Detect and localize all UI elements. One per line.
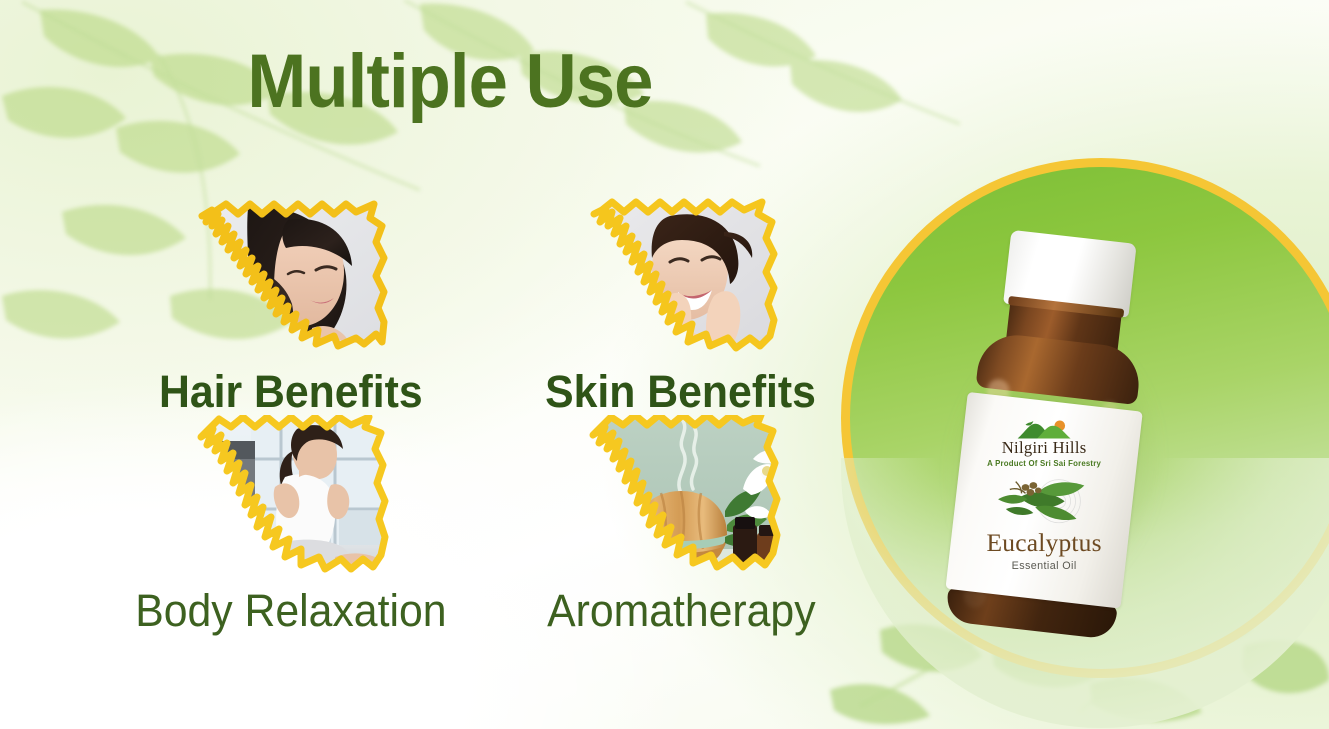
brand-tagline: A Product Of Sri Sai Forestry <box>958 459 1130 468</box>
benefit-label-body-relaxation: Body Relaxation <box>135 587 446 634</box>
brand-name: Nilgiri Hills <box>958 438 1130 458</box>
benefit-item-hair[interactable]: Hair Benefits <box>96 196 486 415</box>
benefit-label-aromatherapy: Aromatherapy <box>547 587 816 634</box>
benefit-label-skin: Skin Benefits <box>546 368 817 415</box>
benefit-item-aromatherapy[interactable]: Aromatherapy <box>486 415 876 634</box>
benefit-item-body-relaxation[interactable]: Body Relaxation <box>96 415 486 634</box>
hair-benefits-image-frame <box>188 196 394 362</box>
page-title: Multiple Use <box>32 44 869 120</box>
mountain-sun-icon <box>1016 419 1073 441</box>
benefits-grid: Hair Benefits <box>96 196 876 635</box>
benefits-row-bottom: Body Relaxation <box>96 415 876 634</box>
product-subtitle: Essential Oil <box>958 560 1130 572</box>
product-showcase: Nilgiri Hills A Product Of Sri Sai Fores… <box>841 158 1329 728</box>
body-relaxation-image-frame <box>185 415 397 585</box>
brand-logo: Nilgiri Hills A Product Of Sri Sai Fores… <box>958 419 1130 468</box>
benefit-item-skin[interactable]: Skin Benefits <box>486 196 876 415</box>
eucalyptus-leaf-illustration <box>990 474 1098 529</box>
product-name: Eucalyptus <box>958 529 1130 558</box>
infographic-canvas: Multiple Use <box>0 0 1329 729</box>
benefit-label-hair: Hair Benefits <box>159 368 423 415</box>
skin-benefits-image-frame <box>578 196 784 362</box>
aromatherapy-image-frame <box>575 415 787 585</box>
bottle-label: Nilgiri Hills A Product Of Sri Sai Fores… <box>945 392 1142 609</box>
benefits-row-top: Hair Benefits <box>96 196 876 415</box>
